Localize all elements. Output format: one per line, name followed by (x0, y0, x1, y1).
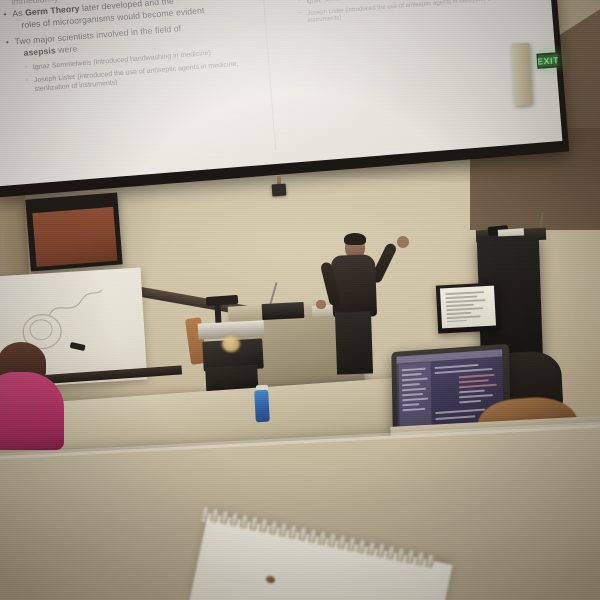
bullet-marker: ◦ (25, 64, 28, 73)
wall-speaker-icon (511, 43, 532, 106)
student-left-torso (0, 372, 64, 450)
bullet-marker: ◦ (299, 10, 302, 18)
slide-r-subbullet-2: ◦ Joseph Lister (introduced the use of a… (307, 0, 527, 25)
wall-wood-panel (25, 193, 122, 272)
bullet-2-post: were (55, 43, 77, 55)
bullet-marker: • (3, 9, 7, 20)
bullet-marker: ◦ (298, 0, 301, 6)
lecture-hall-photo: immediately • As Germ Theory later devel… (0, 0, 600, 600)
lectern-control-panel[interactable] (262, 302, 305, 320)
bullet-marker: ◦ (26, 77, 29, 86)
overhead-projector-lamp-icon (222, 336, 240, 352)
lecturer-legs (335, 311, 373, 374)
r-subbullet-2-text: Joseph Lister (introduced the use of ant… (307, 0, 524, 24)
exit-sign-label: EXIT (537, 55, 560, 67)
slide-right: • Two major asepsis were ◦ Ignaz Semmelw… (278, 0, 537, 163)
water-bottle[interactable] (254, 390, 270, 423)
exit-sign: EXIT (537, 52, 560, 68)
lecturer-torso (331, 254, 377, 317)
bullet-marker: • (5, 37, 9, 48)
wall-mounted-device (272, 184, 287, 197)
lecturer-raised-hand (397, 236, 409, 248)
lecturer-lowered-hand (316, 300, 326, 309)
bullet-1-pre: As (12, 8, 25, 19)
slide-left: immediately • As Germ Theory later devel… (1, 0, 273, 185)
bullet-2-bold: asepsis (23, 45, 56, 58)
lecturer-hair (344, 233, 366, 245)
monitor-document (440, 286, 496, 329)
